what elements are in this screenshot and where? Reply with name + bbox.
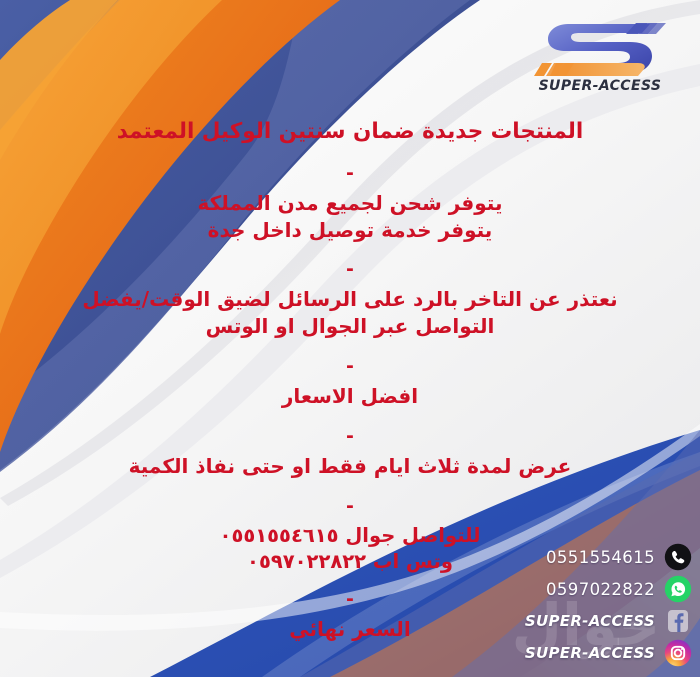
shipping-kingdom-line: يتوفر شحن لجميع مدن المملكة (0, 190, 700, 217)
separator-3: - (0, 351, 700, 383)
promo-poster: SUPER-ACCESS المنتجات جديدة ضمان سنتين ا… (0, 0, 700, 677)
separator-1: - (0, 158, 700, 190)
contact-row-instagram[interactable]: SUPER-ACCESS (492, 637, 692, 669)
facebook-handle: SUPER-ACCESS (525, 612, 655, 630)
contact-row-phone[interactable]: 0551554615 (492, 541, 692, 573)
brand-logo: SUPER-ACCESS (534, 14, 666, 92)
phone-number: 0551554615 (546, 548, 655, 567)
contact-block: 0551554615 0597022822 SUPER-ACCESS (492, 541, 692, 669)
headline: المنتجات جديدة ضمان سنتين الوكيل المعتمد (0, 118, 700, 147)
instagram-handle: SUPER-ACCESS (525, 644, 655, 662)
contact-row-whatsapp[interactable]: 0597022822 (492, 573, 692, 605)
contact-row-facebook[interactable]: SUPER-ACCESS (492, 605, 692, 637)
separator-4: - (0, 421, 700, 453)
apology-line-1: نعتذر عن التاخر بالرد على الرسائل لضيق ا… (0, 286, 700, 313)
facebook-icon[interactable] (664, 607, 692, 635)
separator-2: - (0, 254, 700, 286)
phone-icon[interactable] (664, 543, 692, 571)
best-prices-line: افضل الاسعار (0, 383, 700, 410)
separator-5: - (0, 491, 700, 523)
whatsapp-number: 0597022822 (546, 580, 655, 599)
delivery-jeddah-line: يتوفر خدمة توصيل داخل جدة (0, 217, 700, 244)
logo-wordmark: SUPER-ACCESS (539, 78, 662, 92)
instagram-icon[interactable] (664, 639, 692, 667)
apology-line-2: التواصل عبر الجوال او الوتس (0, 313, 700, 340)
offer-duration-line: عرض لمدة ثلاث ايام فقط او حتى نفاذ الكمي… (0, 453, 700, 480)
super-access-swoosh-logo: SUPER-ACCESS (534, 14, 666, 92)
whatsapp-icon[interactable] (664, 575, 692, 603)
